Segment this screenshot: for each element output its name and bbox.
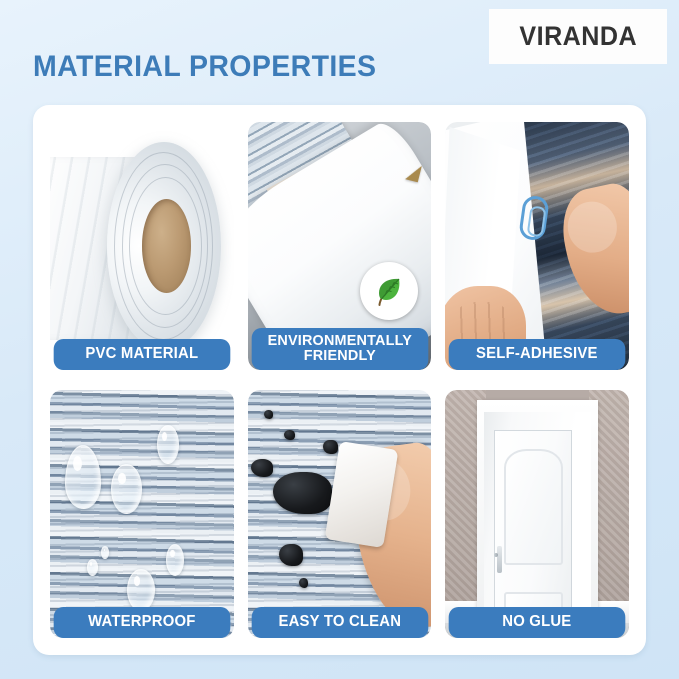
feature-card-no-glue[interactable]: NO GLUE [445,390,629,638]
feature-grid: PVC MATERIAL [50,122,629,638]
features-panel: PVC MATERIAL [33,105,646,655]
feature-label-line-2: FRIENDLY [303,347,375,364]
page-title: MATERIAL PROPERTIES [33,50,376,84]
waterproof-image [50,390,234,638]
feature-label-environmentally-friendly: ENVIRONMENTALLY FRIENDLY [251,328,427,370]
feature-label-pvc-material: PVC MATERIAL [54,339,230,370]
no-glue-image [445,390,629,638]
feature-card-self-adhesive[interactable]: SELF-ADHESIVE [445,122,629,370]
feature-card-easy-to-clean[interactable]: EASY TO CLEAN [248,390,432,638]
pvc-roll-image [50,122,234,370]
feature-card-pvc-material[interactable]: PVC MATERIAL [50,122,234,370]
brand-logo-text: VIRANDA [519,21,637,52]
feature-label-line-1: ENVIRONMENTALLY [267,332,411,349]
feature-label-self-adhesive: SELF-ADHESIVE [449,339,625,370]
feature-label-easy-to-clean: EASY TO CLEAN [251,607,427,638]
feature-card-waterproof[interactable]: WATERPROOF [50,390,234,638]
feature-label-waterproof: WATERPROOF [54,607,230,638]
leaf-icon [372,274,406,308]
self-adhesive-image [445,122,629,370]
feature-card-environmentally-friendly[interactable]: ENVIRONMENTALLY FRIENDLY [248,122,432,370]
easy-to-clean-image [248,390,432,638]
feature-label-no-glue: NO GLUE [449,607,625,638]
brand-logo-box: VIRANDA [489,9,667,64]
